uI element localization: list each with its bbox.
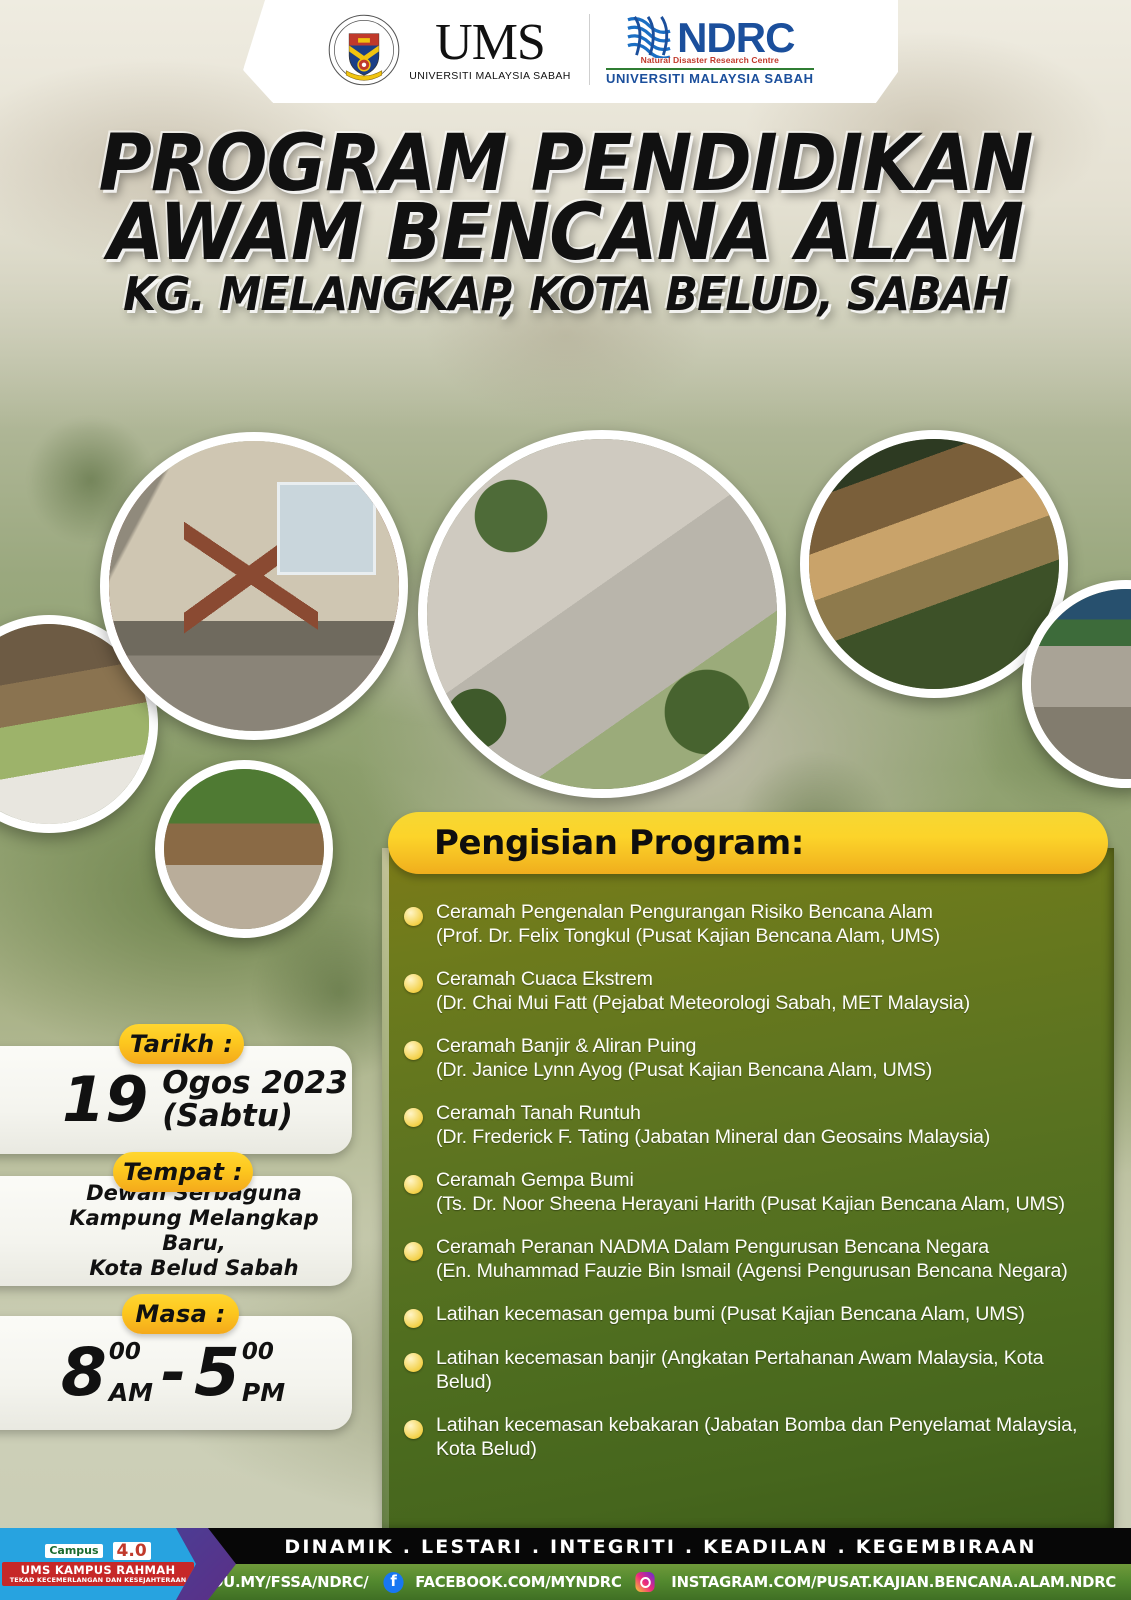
ndrc-name: NDRC (677, 17, 794, 59)
footer-link-text: FACEBOOK.COM/MYNDRC (415, 1573, 621, 1591)
program-heading-pill: Pengisian Program: (388, 812, 1108, 874)
bullet-icon (404, 1175, 423, 1194)
footer-link[interactable]: INSTAGRAM.COM/PUSAT.KAJIAN.BENCANA.ALAM.… (635, 1572, 1125, 1592)
program-item-title: Ceramah Gempa Bumi (436, 1168, 1065, 1192)
poster-title-block: PROGRAM PENDIDIKAN AWAM BENCANA ALAM KG.… (0, 128, 1131, 316)
ums-logo: UMS UNIVERSITI MALAYSIA SABAH (327, 13, 571, 87)
ndrc-divider (606, 68, 814, 70)
program-item-text: Ceramah Tanah Runtuh(Dr. Frederick F. Ta… (436, 1101, 990, 1150)
program-item-title: Ceramah Tanah Runtuh (436, 1101, 990, 1125)
industry-40-badge: 4.0 (113, 1542, 151, 1561)
time-content: 8 00 AM - 5 00 PM (0, 1338, 352, 1408)
date-weekday: (Sabtu) (162, 1100, 347, 1133)
program-item: Latihan kecemasan gempa bumi (Pusat Kaji… (404, 1302, 1096, 1328)
date-month-year: Ogos 2023 (162, 1067, 347, 1100)
program-item: Ceramah Peranan NADMA Dalam Pengurusan B… (404, 1235, 1096, 1284)
bullet-icon (404, 1353, 423, 1372)
program-item-title: Latihan kecemasan kebakaran (Jabatan Bom… (436, 1413, 1096, 1462)
footer-motto: DINAMIK . LESTARI . INTEGRITI . KEADILAN… (284, 1536, 1036, 1558)
time-end-meridiem: PM (242, 1380, 285, 1405)
time-start-meridiem: AM (109, 1380, 153, 1405)
time-start-minutes: 00 (109, 1341, 153, 1364)
venue-label-pill: Tempat : (113, 1152, 253, 1192)
program-panel: Ceramah Pengenalan Pengurangan Risiko Be… (382, 848, 1114, 1528)
rahmah-subtitle: TEKAD KECEMERLANGAN DAN KESEJAHTERAAN (10, 1577, 187, 1584)
program-item-speaker: (Dr. Janice Lynn Ayog (Pusat Kajian Benc… (436, 1058, 932, 1082)
program-item-text: Ceramah Banjir & Aliran Puing(Dr. Janice… (436, 1034, 932, 1083)
program-item-list: Ceramah Pengenalan Pengurangan Risiko Be… (404, 900, 1096, 1462)
bullet-icon (404, 1309, 423, 1328)
date-label-pill: Tarikh : (119, 1024, 244, 1064)
program-item-speaker: (Dr. Frederick F. Tating (Jabatan Minera… (436, 1125, 990, 1149)
footer-link-text: INSTAGRAM.COM/PUSAT.KAJIAN.BENCANA.ALAM.… (671, 1573, 1116, 1591)
program-item-speaker: (En. Muhammad Fauzie Bin Ismail (Agensi … (436, 1259, 1068, 1283)
program-item-text: Latihan kecemasan banjir (Angkatan Perta… (436, 1346, 1096, 1395)
bullet-icon (404, 974, 423, 993)
footer-badge-chevron: Campus 4.0 UMS KAMPUS RAHMAH TEKAD KECEM… (0, 1528, 236, 1600)
program-item-text: Ceramah Gempa Bumi(Ts. Dr. Noor Sheena H… (436, 1168, 1065, 1217)
program-item: Ceramah Banjir & Aliran Puing(Dr. Janice… (404, 1034, 1096, 1083)
time-label-pill: Masa : (122, 1294, 239, 1334)
program-item-title: Latihan kecemasan gempa bumi (Pusat Kaji… (436, 1302, 1025, 1326)
photo-cracked-wall (100, 432, 408, 740)
bullet-icon (404, 907, 423, 926)
date-text: Ogos 2023 (Sabtu) (162, 1067, 347, 1134)
time-separator: - (161, 1338, 186, 1408)
program-item: Ceramah Gempa Bumi(Ts. Dr. Noor Sheena H… (404, 1168, 1096, 1217)
facebook-icon: f (383, 1572, 403, 1593)
program-item-text: Ceramah Pengenalan Pengurangan Risiko Be… (436, 900, 940, 949)
program-item-speaker: (Prof. Dr. Felix Tongkul (Pusat Kajian B… (436, 924, 940, 948)
footer-link[interactable]: fFACEBOOK.COM/MYNDRC (383, 1572, 626, 1593)
title-line-2: AWAM BENCANA ALAM (40, 197, 1092, 270)
ums-wordmark: UMS UNIVERSITI MALAYSIA SABAH (409, 17, 571, 82)
program-item-text: Latihan kecemasan kebakaran (Jabatan Bom… (436, 1413, 1096, 1462)
date-day: 19 (62, 1072, 148, 1128)
footer-badge-row: Campus 4.0 (45, 1542, 150, 1561)
ums-crest-icon (327, 13, 401, 87)
program-item: Latihan kecemasan kebakaran (Jabatan Bom… (404, 1413, 1096, 1462)
poster: UMS UNIVERSITI MALAYSIA SABAH (0, 0, 1131, 1600)
date-label: Tarikh : (130, 1030, 233, 1058)
time-end-hour: 5 (194, 1345, 240, 1402)
ndrc-logo: NDRC Natural Disaster Research Centre UN… (589, 14, 814, 85)
program-item-title: Ceramah Pengenalan Pengurangan Risiko Be… (436, 900, 940, 924)
venue-card: Dewan Serbaguna Kampung Melangkap Baru, … (0, 1176, 352, 1286)
venue-label: Tempat : (123, 1158, 243, 1186)
program-item-speaker: (Dr. Chai Mui Fatt (Pejabat Meteorologi … (436, 991, 970, 1015)
bullet-icon (404, 1242, 423, 1261)
program-item-text: Latihan kecemasan gempa bumi (Pusat Kaji… (436, 1302, 1025, 1328)
program-heading: Pengisian Program: (434, 823, 804, 863)
footer: DINAMIK . LESTARI . INTEGRITI . KEADILAN… (0, 1528, 1131, 1600)
time-start-hour: 8 (61, 1345, 107, 1402)
date-content: 19 Ogos 2023 (Sabtu) (0, 1067, 348, 1134)
time-start-suffix: 00 AM (109, 1341, 153, 1405)
ums-subtitle: UNIVERSITI MALAYSIA SABAH (409, 71, 571, 82)
photo-debris-river (418, 430, 786, 798)
footer-badge-group: Campus 4.0 UMS KAMPUS RAHMAH TEKAD KECEM… (0, 1528, 196, 1600)
logo-group: UMS UNIVERSITI MALAYSIA SABAH (327, 13, 814, 91)
ums-name: UMS (435, 17, 545, 69)
ndrc-caption: Natural Disaster Research Centre (641, 56, 779, 65)
time-end-minutes: 00 (242, 1341, 285, 1364)
bullet-icon (404, 1420, 423, 1439)
program-item-title: Ceramah Peranan NADMA Dalam Pengurusan B… (436, 1235, 1068, 1259)
program-item-title: Latihan kecemasan banjir (Angkatan Perta… (436, 1346, 1096, 1395)
program-item: Ceramah Tanah Runtuh(Dr. Frederick F. Ta… (404, 1101, 1096, 1150)
program-item-title: Ceramah Cuaca Ekstrem (436, 967, 970, 991)
program-item-text: Ceramah Peranan NADMA Dalam Pengurusan B… (436, 1235, 1068, 1284)
instagram-icon (635, 1572, 654, 1592)
green-campus-badge: Campus (45, 1544, 102, 1558)
footer-motto-bar: DINAMIK . LESTARI . INTEGRITI . KEADILAN… (190, 1528, 1131, 1565)
title-line-3: KG. MELANGKAP, KOTA BELUD, SABAH (40, 273, 1092, 316)
header-logo-band: UMS UNIVERSITI MALAYSIA SABAH (243, 0, 898, 103)
venue-line-2: Kampung Melangkap Baru, (36, 1206, 352, 1256)
ums-kampus-rahmah-badge: UMS KAMPUS RAHMAH TEKAD KECEMERLANGAN DA… (2, 1562, 195, 1586)
time-label: Masa : (135, 1300, 225, 1328)
program-item: Latihan kecemasan banjir (Angkatan Perta… (404, 1346, 1096, 1395)
time-end-suffix: 00 PM (242, 1341, 285, 1405)
program-item-text: Ceramah Cuaca Ekstrem(Dr. Chai Mui Fatt … (436, 967, 970, 1016)
program-item: Ceramah Pengenalan Pengurangan Risiko Be… (404, 900, 1096, 949)
program-item: Ceramah Cuaca Ekstrem(Dr. Chai Mui Fatt … (404, 967, 1096, 1016)
bullet-icon (404, 1108, 423, 1127)
program-item-title: Ceramah Banjir & Aliran Puing (436, 1034, 932, 1058)
program-item-speaker: (Ts. Dr. Noor Sheena Herayani Harith (Pu… (436, 1192, 1065, 1216)
ndrc-subtitle: UNIVERSITI MALAYSIA SABAH (606, 72, 814, 85)
bullet-icon (404, 1041, 423, 1060)
photo-road-collapse (155, 760, 333, 938)
venue-content: Dewan Serbaguna Kampung Melangkap Baru, … (0, 1181, 352, 1282)
venue-line-3: Kota Belud Sabah (36, 1256, 352, 1281)
